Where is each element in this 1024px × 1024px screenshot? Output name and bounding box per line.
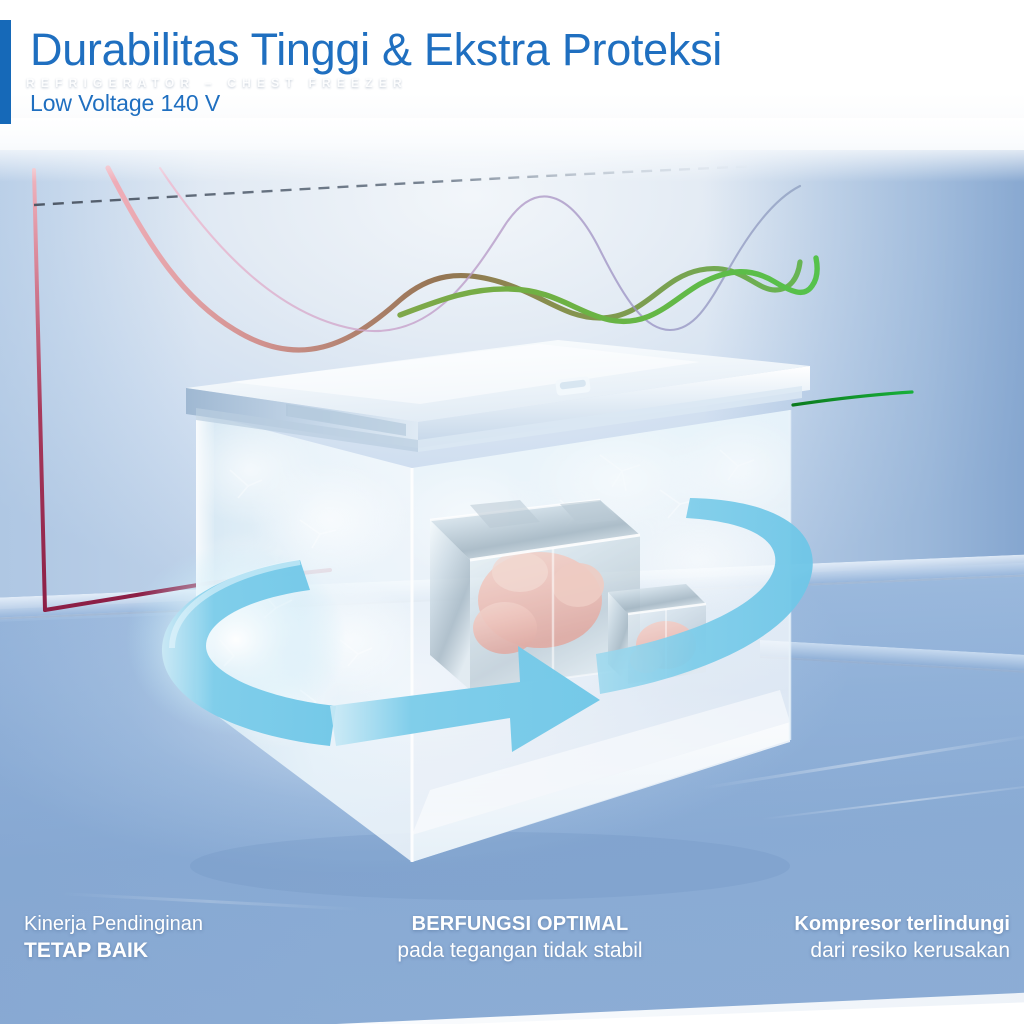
page-title: Durabilitas Tinggi & Ekstra Proteksi — [30, 26, 722, 73]
product-category-tagline: REFRIGERATOR – CHEST FREEZER — [26, 76, 408, 90]
product-shadow — [190, 832, 790, 900]
freezer-edge-glow-left — [196, 412, 214, 707]
benefit-compressor-line1: Kompresor terlindungi — [740, 912, 1010, 938]
benefit-cooling-line2: TETAP BAIK — [24, 938, 203, 965]
poster-canvas: Durabilitas Tinggi & Ekstra Proteksi Low… — [0, 0, 1024, 1024]
benefit-compressor-line2: dari resiko kerusakan — [740, 938, 1010, 965]
benefit-column-voltage: BERFUNGSI OPTIMAL pada tegangan tidak st… — [370, 912, 670, 964]
benefit-column-cooling: Kinerja Pendinginan TETAP BAIK — [24, 912, 203, 964]
benefit-voltage-line2: pada tegangan tidak stabil — [370, 938, 670, 965]
page-subtitle: Low Voltage 140 V — [30, 90, 220, 117]
benefit-cooling-line1: Kinerja Pendinginan — [24, 912, 203, 938]
header-accent-bar — [0, 20, 11, 124]
footer-benefits: Kinerja Pendinginan TETAP BAIK BERFUNGSI… — [0, 900, 1024, 1024]
benefit-voltage-line1: BERFUNGSI OPTIMAL — [370, 912, 670, 938]
benefit-column-compressor: Kompresor terlindungi dari resiko kerusa… — [740, 912, 1010, 964]
header-fade — [0, 118, 1024, 182]
